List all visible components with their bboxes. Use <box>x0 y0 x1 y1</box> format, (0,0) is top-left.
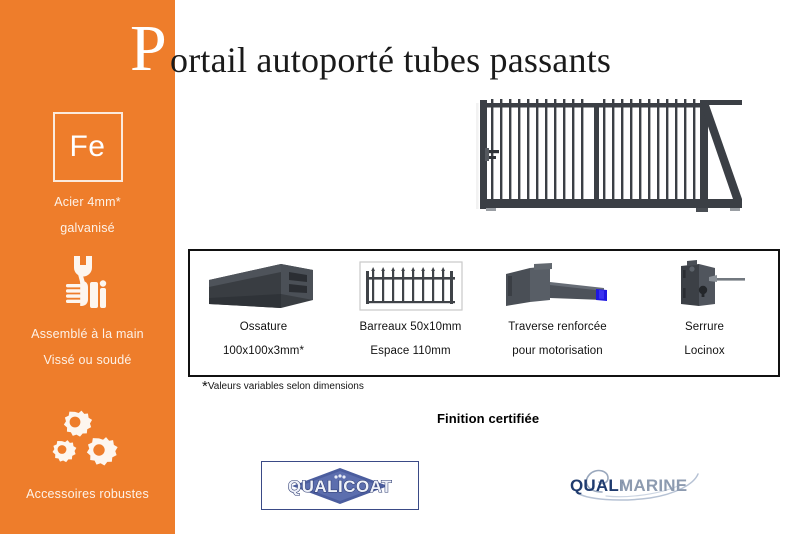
feature-traverse-line1: Traverse renforcée <box>508 319 607 336</box>
product-spec-sheet: Fe Acier 4mm* galvanisé <box>0 0 800 534</box>
sidebar-item-material-line1: Acier 4mm* <box>0 196 175 209</box>
feature-traverse: Traverse renforcée pour motorisation <box>484 251 631 375</box>
feature-serrure-line2: Locinox <box>684 343 724 360</box>
sidebar-item-material-line2: galvanisé <box>0 222 175 235</box>
feature-ossature-line2: 100x100x3mm* <box>223 343 304 360</box>
qualimarine-logo: QUALI MARINE <box>558 462 708 506</box>
feature-barreaux-line2: Espace 110mm <box>370 343 450 360</box>
steel-post-profile-icon <box>205 259 323 313</box>
certification-heading: Finition certifiée <box>437 411 539 426</box>
sidebar-item-assembly-line2: Vissé ou soudé <box>0 354 175 367</box>
fe-symbol: Fe <box>69 130 105 164</box>
feature-serrure-line1: Serrure <box>685 319 724 336</box>
sidebar-item-assembly: Assemblé à la main Vissé ou soudé <box>0 252 175 366</box>
gears-icon <box>0 408 175 478</box>
features-panel: Ossature 100x100x3mm* <box>188 249 780 377</box>
fe-element-box-icon: Fe <box>53 112 123 182</box>
feature-ossature-line1: Ossature <box>240 319 287 336</box>
footnote: *Valeurs variables selon dimensions <box>202 381 364 393</box>
page-title-initial: P <box>130 16 167 82</box>
hand-holding-wrench-icon <box>0 252 175 314</box>
fence-bars-icon <box>359 259 463 313</box>
sidebar-item-accessories-line1: Accessoires robustes <box>0 488 175 501</box>
svg-text:QUALI: QUALI <box>570 476 624 495</box>
sidebar-item-accessories: Accessoires robustes <box>0 408 175 501</box>
feature-ossature: Ossature 100x100x3mm* <box>190 251 337 375</box>
footnote-text: Valeurs variables selon dimensions <box>208 381 364 392</box>
sidebar-item-assembly-line1: Assemblé à la main <box>0 328 175 341</box>
svg-text:QUALICOAT: QUALICOAT <box>288 477 392 496</box>
qualicoat-logo: QUALICOAT <box>261 461 419 510</box>
page-title: ortail autoporté tubes passants <box>170 42 611 78</box>
feature-barreaux-line1: Barreaux 50x10mm <box>360 319 462 336</box>
feature-traverse-line2: pour motorisation <box>512 343 603 360</box>
sidebar-item-material: Fe Acier 4mm* galvanisé <box>0 112 175 234</box>
cantilever-sliding-gate-illustration <box>468 95 764 230</box>
lock-icon <box>659 259 751 313</box>
feature-barreaux: Barreaux 50x10mm Espace 110mm <box>337 251 484 375</box>
reinforced-crossbar-motor-icon <box>500 259 616 313</box>
svg-text:MARINE: MARINE <box>619 476 687 495</box>
feature-serrure: Serrure Locinox <box>631 251 778 375</box>
